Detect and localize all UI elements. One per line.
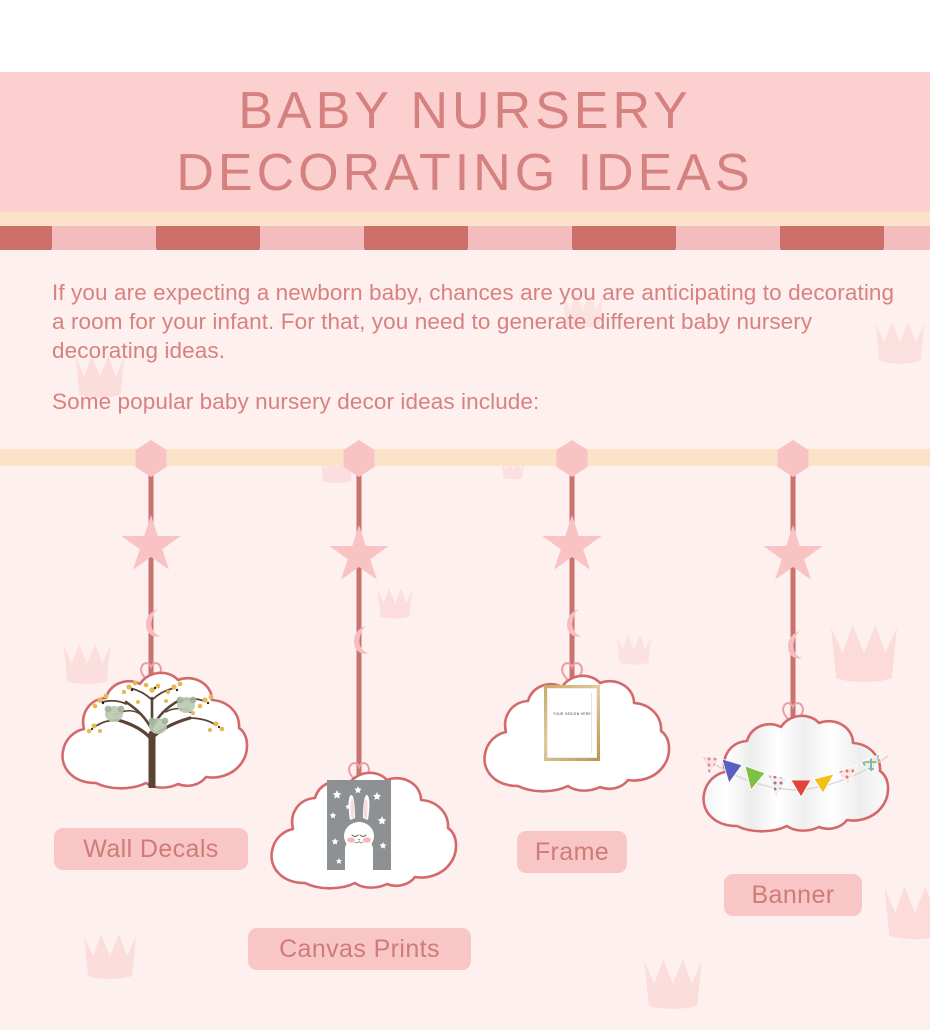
page-header: BABY NURSERY DECORATING IDEAS [0,72,930,212]
label-text-frame: Frame [535,838,609,867]
intro-paragraph-1: If you are expecting a newborn baby, cha… [52,278,902,365]
intro-text-block: If you are expecting a newborn baby, cha… [52,278,902,416]
label-pill-wall-decals[interactable]: Wall Decals [54,828,248,870]
peach-band-top [0,212,930,226]
crescent-moon-icon [784,630,806,660]
cloud-card-banner[interactable] [695,698,891,848]
label-text-wall-decals: Wall Decals [83,835,218,864]
crescent-moon-icon [350,625,372,655]
crescent-moon-icon [142,608,164,638]
cloud-card-canvas-prints[interactable] [263,755,459,905]
cloud-card-wall-decals[interactable] [54,655,250,805]
crescent-moon-icon [563,608,585,638]
page-title-line1: BABY NURSERY [238,80,692,142]
label-pill-canvas-prints[interactable]: Canvas Prints [248,928,471,970]
top-white-strip [0,0,930,72]
intro-paragraph-2: Some popular baby nursery decor ideas in… [52,387,902,416]
label-text-canvas-prints: Canvas Prints [279,935,440,964]
label-text-banner: Banner [751,881,834,910]
page-title-line2: DECORATING IDEAS [176,142,753,204]
label-pill-banner[interactable]: Banner [724,874,862,916]
label-pill-frame[interactable]: Frame [517,831,627,873]
cloud-card-frame[interactable] [476,658,672,808]
